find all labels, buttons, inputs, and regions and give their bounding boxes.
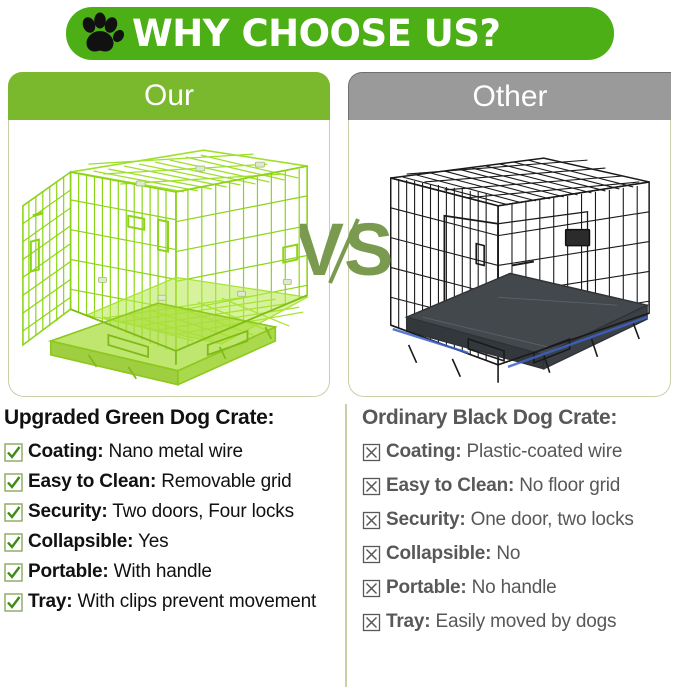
header-our: Our	[8, 72, 330, 120]
product-image-black-crate	[348, 120, 671, 397]
checkbox-checked-icon	[4, 503, 23, 522]
checkbox-checked-icon	[4, 443, 23, 462]
list-item-text: Easy to Clean: No floor grid	[386, 474, 620, 497]
list-item: Coating: Nano metal wire	[4, 440, 342, 463]
list-item: Tray: With clips prevent movement	[4, 590, 342, 613]
list-title-our: Upgraded Green Dog Crate:	[4, 406, 342, 430]
list-item-text: Portable: No handle	[386, 576, 556, 599]
list-item: Security: One door, two locks	[362, 508, 677, 531]
list-item-text: Portable: With handle	[28, 560, 212, 583]
list-item: Portable: With handle	[4, 560, 342, 583]
checkbox-checked-icon	[4, 593, 23, 612]
header-our-label: Our	[144, 79, 194, 113]
list-item: Security: Two doors, Four locks	[4, 500, 342, 523]
column-divider	[345, 404, 347, 687]
list-item-text: Easy to Clean: Removable grid	[28, 470, 292, 493]
list-item-text: Coating: Nano metal wire	[28, 440, 243, 463]
banner-title: WHY CHOOSE US?	[132, 12, 500, 55]
list-item: Collapsible: No	[362, 542, 677, 565]
feature-list-other: Ordinary Black Dog Crate: Coating: Plast…	[352, 406, 677, 687]
list-item: Easy to Clean: Removable grid	[4, 470, 342, 493]
black-dog-crate-illustration	[349, 120, 670, 396]
list-item: Tray: Easily moved by dogs	[362, 610, 677, 633]
checkbox-x-icon	[362, 545, 381, 564]
checkbox-x-icon	[362, 443, 381, 462]
comparison-infographic: WHY CHOOSE US? Our Other	[0, 0, 679, 687]
list-item-text: Collapsible: Yes	[28, 530, 168, 553]
checkbox-checked-icon	[4, 473, 23, 492]
list-title-other: Ordinary Black Dog Crate:	[362, 406, 677, 430]
green-dog-crate-illustration	[9, 120, 329, 396]
checkbox-x-icon	[362, 579, 381, 598]
list-item-text: Collapsible: No	[386, 542, 520, 565]
list-item: Easy to Clean: No floor grid	[362, 474, 677, 497]
list-item: Collapsible: Yes	[4, 530, 342, 553]
list-item-text: Tray: Easily moved by dogs	[386, 610, 616, 633]
checkbox-x-icon	[362, 511, 381, 530]
list-item-text: Tray: With clips prevent movement	[28, 590, 316, 613]
feature-list-our: Upgraded Green Dog Crate: Coating: Nano …	[4, 406, 342, 687]
list-item: Portable: No handle	[362, 576, 677, 599]
checkbox-checked-icon	[4, 533, 23, 552]
checkbox-x-icon	[362, 613, 381, 632]
header-other-label: Other	[472, 80, 547, 114]
banner: WHY CHOOSE US?	[66, 7, 614, 60]
list-item-text: Security: Two doors, Four locks	[28, 500, 294, 523]
list-item-text: Security: One door, two locks	[386, 508, 634, 531]
checkbox-x-icon	[362, 477, 381, 496]
list-item-text: Coating: Plastic-coated wire	[386, 440, 622, 463]
checkbox-checked-icon	[4, 563, 23, 582]
list-item: Coating: Plastic-coated wire	[362, 440, 677, 463]
header-other: Other	[348, 72, 671, 120]
product-image-green-crate	[8, 120, 330, 397]
versus-badge: VS	[300, 205, 392, 297]
paw-icon	[78, 12, 124, 56]
